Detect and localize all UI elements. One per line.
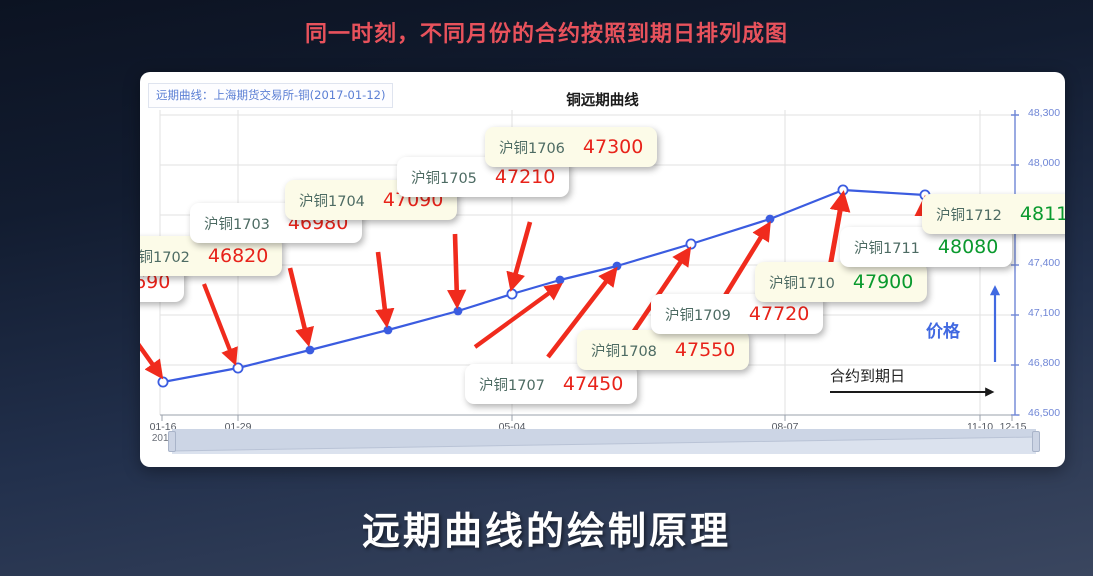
chart-card: 远期曲线：上海期货交易所-铜(2017-01-12) 铜远期曲线 (140, 72, 1065, 467)
price-axis-label: 价格 (926, 317, 960, 342)
range-selector-preview (172, 429, 1036, 454)
callout-hutong1712[interactable]: 沪铜1712 48110 (922, 194, 1065, 234)
expiry-axis-label: 合约到期日 (830, 365, 905, 386)
y-tick-label: 47,400 (1028, 257, 1060, 269)
range-handle-right[interactable] (1032, 431, 1040, 452)
y-tick-label: 46,500 (1028, 407, 1060, 419)
y-tick-label: 48,300 (1028, 107, 1060, 119)
page-headline: 同一时刻，不同月份的合约按照到期日排列成图 (0, 16, 1093, 48)
range-selector[interactable] (172, 429, 1036, 454)
y-tick-label: 48,000 (1028, 157, 1060, 169)
range-handle-left[interactable] (168, 431, 176, 452)
callout-hutong1708[interactable]: 沪铜1708 47550 (577, 330, 749, 370)
page-footline: 远期曲线的绘制原理 (0, 500, 1093, 555)
callout-hutong1706[interactable]: 沪铜1706 47300 (485, 127, 657, 167)
callout-hutong1710[interactable]: 沪铜1710 47900 (755, 262, 927, 302)
callout-hutong1707[interactable]: 沪铜1707 47450 (465, 364, 637, 404)
y-tick-label: 46,800 (1028, 357, 1060, 369)
y-tick-label: 47,100 (1028, 307, 1060, 319)
